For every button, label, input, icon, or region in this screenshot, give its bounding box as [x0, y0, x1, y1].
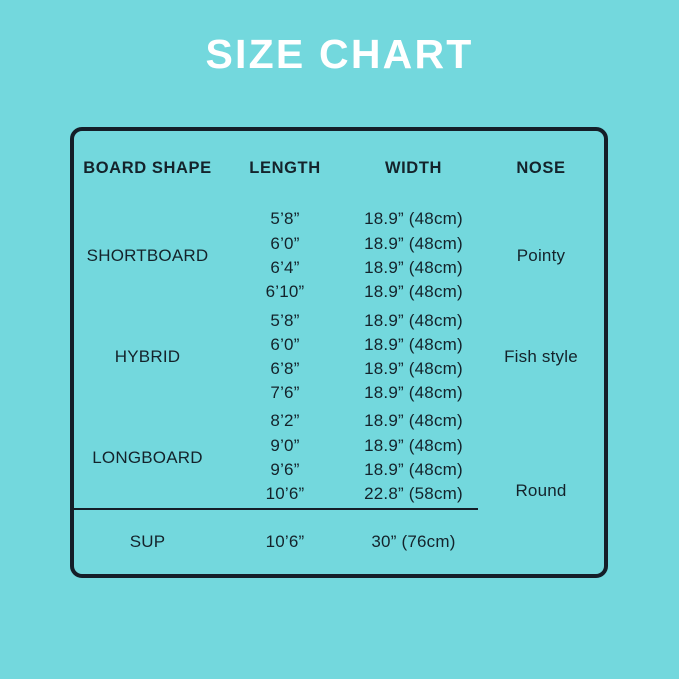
nose-label: Round — [515, 481, 566, 500]
length-value: 6’10” — [266, 280, 305, 304]
length-value: 9’0” — [270, 434, 299, 458]
page-title: SIZE CHART — [0, 34, 679, 75]
width-value: 18.9” (48cm) — [364, 333, 463, 357]
size-chart-table: BOARD SHAPE LENGTH WIDTH NOSE SHORTBOARD… — [74, 131, 604, 574]
size-chart-table-container: BOARD SHAPE LENGTH WIDTH NOSE SHORTBOARD… — [70, 127, 608, 578]
length-value: 6’8” — [270, 357, 299, 381]
board-shape-label: SUP — [130, 532, 166, 551]
length-list: 8’2” 9’0” 9’6” 10’6” — [221, 409, 349, 506]
length-value: 6’0” — [270, 333, 299, 357]
column-header-nose: NOSE — [478, 131, 604, 205]
width-value: 18.9” (48cm) — [364, 280, 463, 304]
column-header-width: WIDTH — [349, 131, 478, 205]
cell-nose-merged: Round — [478, 408, 604, 574]
table-row: LONGBOARD 8’2” 9’0” 9’6” 10’6” 18.9” (48… — [74, 408, 604, 509]
width-list: 18.9” (48cm) 18.9” (48cm) 18.9” (48cm) 2… — [349, 409, 478, 506]
board-shape-label: LONGBOARD — [92, 448, 202, 467]
nose-label: Fish style — [504, 347, 578, 366]
cell-board-shape: HYBRID — [74, 306, 221, 407]
width-value: 18.9” (48cm) — [364, 381, 463, 405]
board-shape-label: HYBRID — [115, 347, 180, 366]
table-body: SHORTBOARD 5’8” 6’0” 6’4” 6’10” 18.9” (4… — [74, 205, 604, 574]
board-shape-label: SHORTBOARD — [87, 246, 209, 265]
table-header: BOARD SHAPE LENGTH WIDTH NOSE — [74, 131, 604, 205]
table-row: HYBRID 5’8” 6’0” 6’8” 7’6” 18.9” (48cm) … — [74, 306, 604, 407]
width-value: 18.9” (48cm) — [364, 256, 463, 280]
cell-board-shape: LONGBOARD — [74, 408, 221, 509]
width-value: 18.9” (48cm) — [364, 309, 463, 333]
length-value: 5’8” — [270, 207, 299, 231]
length-value: 5’8” — [270, 309, 299, 333]
cell-length: 5’8” 6’0” 6’8” 7’6” — [221, 306, 349, 407]
width-value: 18.9” (48cm) — [364, 357, 463, 381]
length-value: 8’2” — [270, 409, 299, 433]
cell-width: 18.9” (48cm) 18.9” (48cm) 18.9” (48cm) 1… — [349, 205, 478, 306]
length-value: 6’4” — [270, 256, 299, 280]
cell-width: 30” (76cm) — [349, 509, 478, 574]
table-header-row: BOARD SHAPE LENGTH WIDTH NOSE — [74, 131, 604, 205]
cell-nose: Fish style — [478, 306, 604, 407]
cell-board-shape: SUP — [74, 509, 221, 574]
column-header-length: LENGTH — [221, 131, 349, 205]
cell-board-shape: SHORTBOARD — [74, 205, 221, 306]
cell-length: 10’6” — [221, 509, 349, 574]
width-value: 18.9” (48cm) — [364, 232, 463, 256]
width-value: 18.9” (48cm) — [364, 409, 463, 433]
cell-width: 18.9” (48cm) 18.9” (48cm) 18.9” (48cm) 1… — [349, 306, 478, 407]
width-value: 18.9” (48cm) — [364, 207, 463, 231]
width-value: 18.9” (48cm) — [364, 458, 463, 482]
width-list: 18.9” (48cm) 18.9” (48cm) 18.9” (48cm) 1… — [349, 309, 478, 406]
width-value: 22.8” (58cm) — [364, 482, 463, 506]
nose-label: Pointy — [517, 246, 565, 265]
cell-length: 8’2” 9’0” 9’6” 10’6” — [221, 408, 349, 509]
length-value: 6’0” — [270, 232, 299, 256]
cell-nose: Pointy — [478, 205, 604, 306]
length-list: 5’8” 6’0” 6’4” 6’10” — [221, 207, 349, 304]
width-list: 18.9” (48cm) 18.9” (48cm) 18.9” (48cm) 1… — [349, 207, 478, 304]
length-list: 5’8” 6’0” 6’8” 7’6” — [221, 309, 349, 406]
length-value: 10’6” — [266, 482, 305, 506]
length-value: 9’6” — [270, 458, 299, 482]
length-value: 7’6” — [270, 381, 299, 405]
length-value: 10’6” — [266, 532, 305, 551]
cell-length: 5’8” 6’0” 6’4” 6’10” — [221, 205, 349, 306]
width-value: 30” (76cm) — [371, 532, 455, 551]
cell-width: 18.9” (48cm) 18.9” (48cm) 18.9” (48cm) 2… — [349, 408, 478, 509]
table-row: SHORTBOARD 5’8” 6’0” 6’4” 6’10” 18.9” (4… — [74, 205, 604, 306]
column-header-board-shape: BOARD SHAPE — [74, 131, 221, 205]
width-value: 18.9” (48cm) — [364, 434, 463, 458]
